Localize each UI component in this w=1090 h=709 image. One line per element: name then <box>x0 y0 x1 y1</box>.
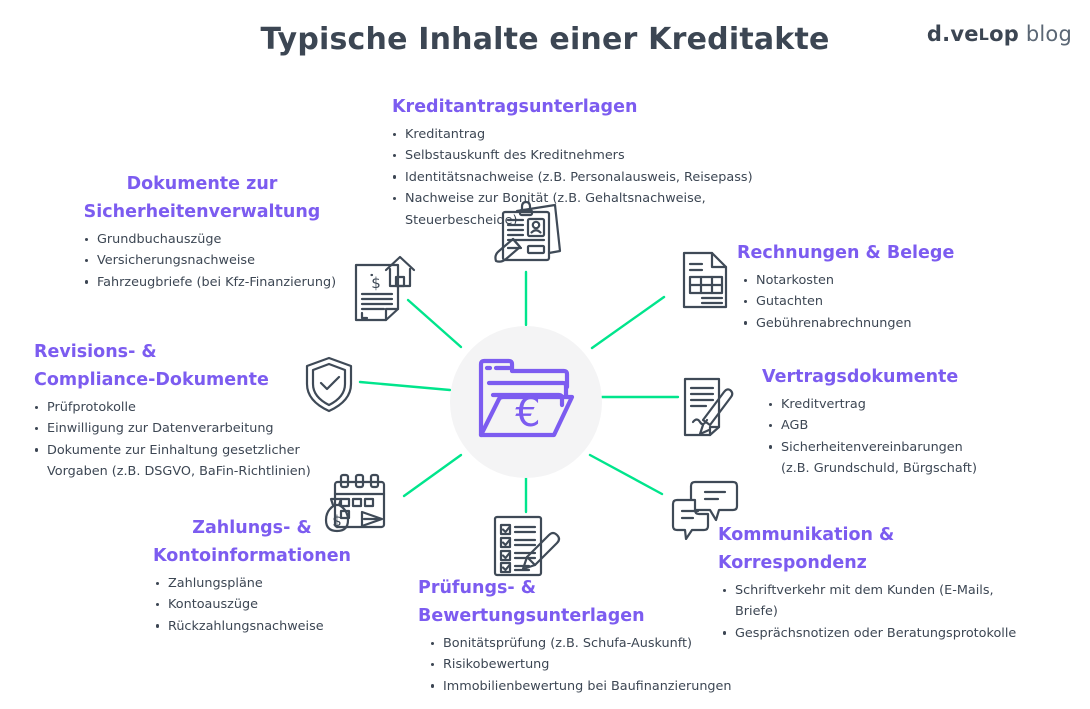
list-item: Immobilienbewertung bei Baufinanzierunge… <box>430 676 738 697</box>
section-heading: Kreditantragsunterlagen <box>392 93 812 121</box>
section-dokumente-zur-sicherheitenverwaltung: Dokumente zur Sicherheitenverwaltung Gru… <box>62 170 342 293</box>
section-list: Prüfprotokolle Einwilligung zur Datenver… <box>34 397 334 483</box>
infographic-canvas: Typische Inhalte einer Kreditakte d.veLo… <box>0 0 1090 709</box>
section-kreditantragsunterlagen: Kreditantragsunterlagen Kreditantrag Sel… <box>392 93 812 231</box>
list-item: Rückzahlungsnachweise <box>155 616 367 637</box>
list-item: Dokumente zur Einhaltung gesetzlicher <box>34 440 334 461</box>
list-item: Bonitätsprüfung (z.B. Schufa-Auskunft) <box>430 633 738 654</box>
brand-logo-part-3: op <box>989 22 1019 46</box>
brand-logo-part-1: d.ve <box>927 22 979 46</box>
section-heading: Vertragsdokumente <box>762 363 1062 391</box>
section-heading: Dokumente zur Sicherheitenverwaltung <box>62 170 342 226</box>
list-item: Risikobewertung <box>430 654 738 675</box>
section-list: Grundbuchauszüge Versicherungsnachweise … <box>84 229 342 293</box>
list-item-continuation: (z.B. Grundschuld, Bürgschaft) <box>768 458 1062 479</box>
section-list: Kreditantrag Selbstauskunft des Kreditne… <box>392 124 812 231</box>
brand-logo: d.veLop blog <box>927 22 1072 46</box>
section-rechnungen-belege: Rechnungen & Belege Notarkosten Gutachte… <box>737 239 1037 334</box>
list-item: Kontoauszüge <box>155 594 367 615</box>
list-item: Identitätsnachweise (z.B. Personalauswei… <box>392 167 812 188</box>
list-item: Gesprächsnotizen oder Beratungsprotokoll… <box>722 623 1038 644</box>
section-list: Schriftverkehr mit dem Kunden (E-Mails, … <box>722 580 1038 644</box>
svg-text:$: $ <box>371 274 381 292</box>
brand-logo-part-2: L <box>979 25 989 44</box>
list-item: Kreditantrag <box>392 124 812 145</box>
section-list: Notarkosten Gutachten Gebührenabrechnung… <box>743 270 1037 334</box>
section-heading: Prüfungs- & Bewertungsunterlagen <box>418 574 738 630</box>
invoice-document-icon <box>678 249 734 311</box>
list-item: Notarkosten <box>743 270 1037 291</box>
list-item: Grundbuchauszüge <box>84 229 342 250</box>
section-list: Bonitätsprüfung (z.B. Schufa-Auskunft) R… <box>430 633 738 697</box>
list-item: Gutachten <box>743 291 1037 312</box>
section-list: Kreditvertrag AGB Sicherheitenvereinbaru… <box>768 394 1062 480</box>
list-item: Kreditvertrag <box>768 394 1062 415</box>
list-item: Gebührenabrechnungen <box>743 313 1037 334</box>
section-kommunikation-korrespondenz: Kommunikation & Korrespondenz Schriftver… <box>718 521 1038 644</box>
section-heading: Rechnungen & Belege <box>737 239 1037 267</box>
section-pruefungs-bewertungsunterlagen: Prüfungs- & Bewertungsunterlagen Bonität… <box>418 574 738 697</box>
brand-logo-part-4: blog <box>1026 22 1072 46</box>
connector-kommunikation <box>590 455 662 494</box>
connector-zahlungen <box>404 455 461 496</box>
hub-euro-symbol: € <box>515 390 540 436</box>
list-item: Sicherheitenvereinbarungen <box>768 437 1062 458</box>
list-item: Fahrzeugbriefe (bei Kfz-Finanzierung) <box>84 272 342 293</box>
section-heading: Kommunikation & Korrespondenz <box>718 521 1038 577</box>
list-item: Schriftverkehr mit dem Kunden (E-Mails, … <box>722 580 1038 623</box>
section-zahlungs-kontoinformationen: Zahlungs- & Kontoinformationen Zahlungsp… <box>137 514 367 637</box>
list-item: AGB <box>768 415 1062 436</box>
folder-euro-icon: € <box>471 347 581 457</box>
section-revisions-compliance-dokumente: Revisions- & Compliance-Dokumente Prüfpr… <box>34 338 334 483</box>
signed-contract-icon <box>679 375 737 437</box>
section-vertragsdokumente: Vertragsdokumente Kreditvertrag AGB Sich… <box>762 363 1062 480</box>
document-house-icon: $ <box>348 247 422 323</box>
checklist-pencil-icon <box>485 513 565 583</box>
list-item: Nachweise zur Bonität (z.B. Gehaltsnachw… <box>392 188 812 231</box>
list-item: Prüfprotokolle <box>34 397 334 418</box>
connector-revision <box>360 382 450 390</box>
section-heading: Revisions- & Compliance-Dokumente <box>34 338 334 394</box>
section-heading: Zahlungs- & Kontoinformationen <box>137 514 367 570</box>
list-item: Zahlungspläne <box>155 573 367 594</box>
list-item: Einwilligung zur Datenverarbeitung <box>34 418 334 439</box>
connector-rechnungen <box>592 297 664 348</box>
list-item-continuation: Vorgaben (z.B. DSGVO, BaFin-Richtlinien) <box>34 461 334 482</box>
list-item: Selbstauskunft des Kreditnehmers <box>392 145 812 166</box>
section-list: Zahlungspläne Kontoauszüge Rückzahlungsn… <box>155 573 367 637</box>
list-item: Versicherungsnachweise <box>84 250 342 271</box>
